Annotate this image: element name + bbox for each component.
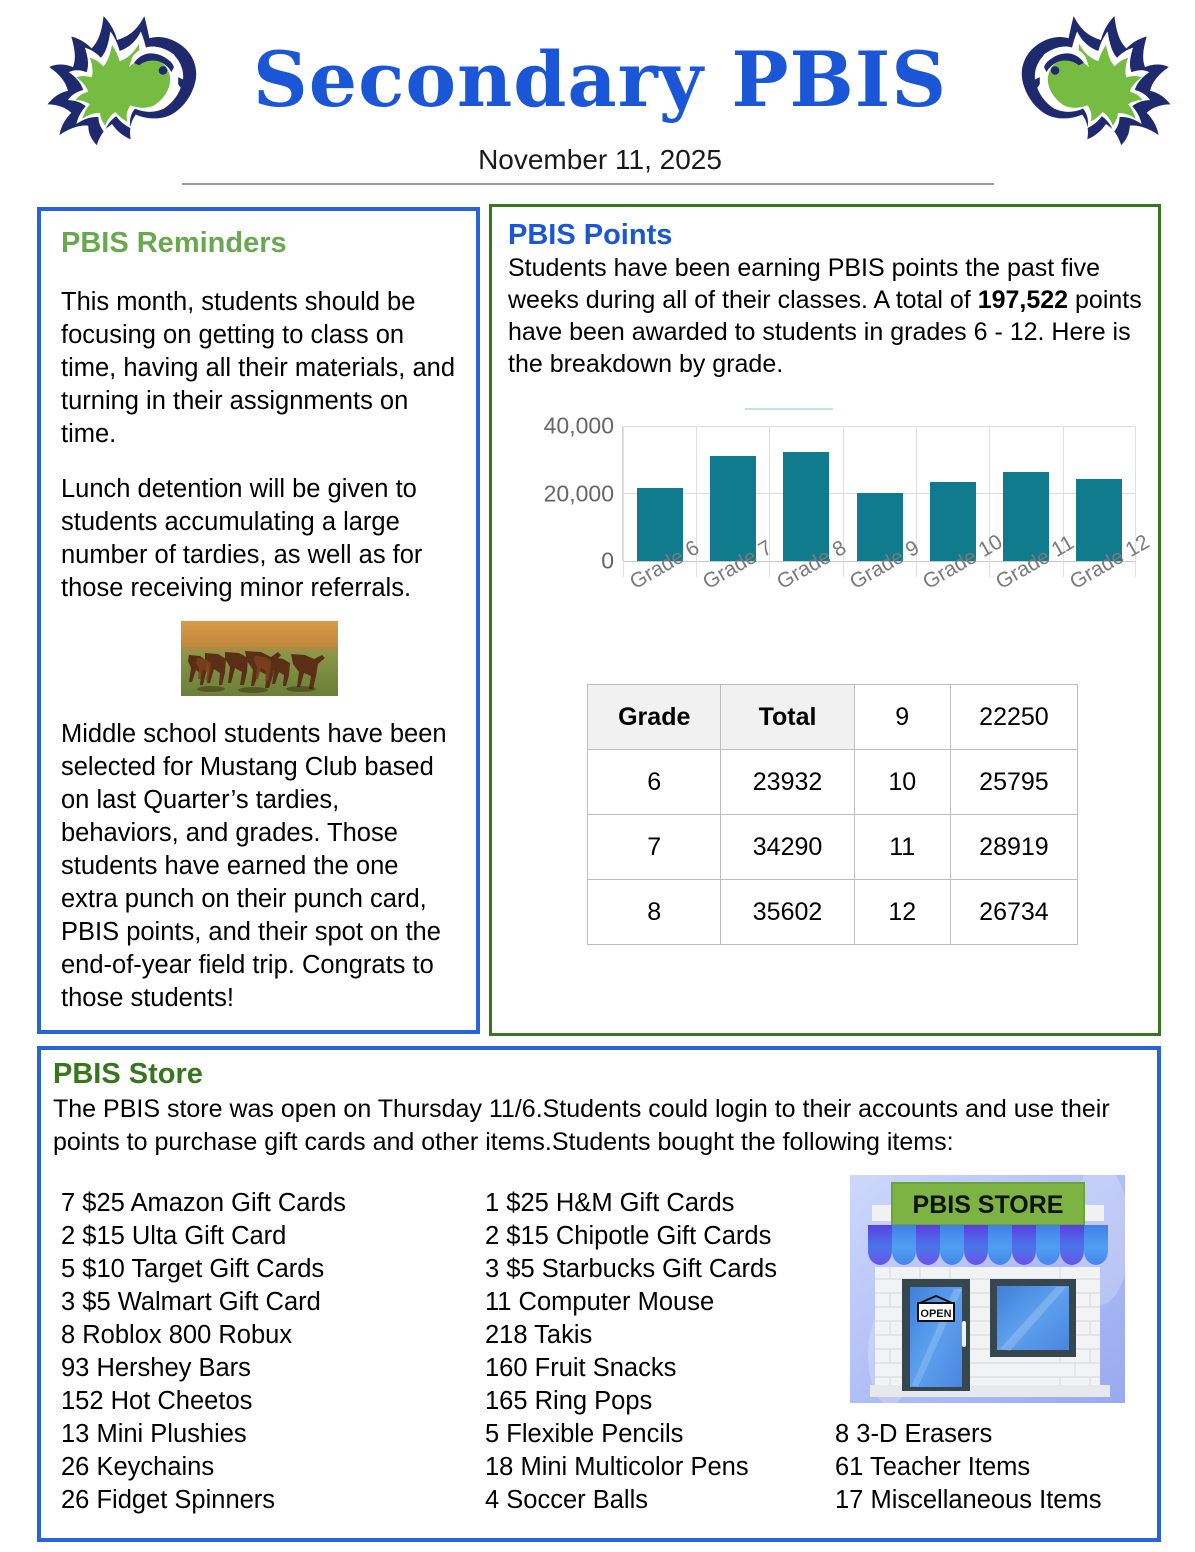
table-cell-grade: 11 — [854, 815, 950, 880]
store-item: 8 3-D Erasers — [835, 1418, 1165, 1451]
store-items-column-2: 1 $25 H&M Gift Cards2 $15 Chipotle Gift … — [485, 1187, 865, 1517]
mustang-head-logo — [33, 6, 208, 146]
header-divider — [182, 183, 994, 185]
store-item: 61 Teacher Items — [835, 1451, 1165, 1484]
running-horses-photo — [181, 621, 338, 696]
store-item: 7 $25 Amazon Gift Cards — [61, 1187, 481, 1220]
newsletter-header: Secondary PBIS November 11, 2025 — [0, 0, 1195, 196]
table-cell-grade: 8 — [588, 880, 721, 945]
store-intro: The PBIS store was open on Thursday 11/6… — [53, 1093, 1143, 1159]
table-header-grade: Grade — [588, 685, 721, 750]
reminders-paragraph-2: Lunch detention will be given to student… — [61, 473, 458, 605]
y-tick-label: 40,000 — [544, 413, 614, 440]
store-item: 11 Computer Mouse — [485, 1286, 865, 1319]
store-item: 17 Miscellaneous Items — [835, 1484, 1165, 1517]
table-cell-grade: 10 — [854, 750, 950, 815]
table-cell-grade: 7 — [588, 815, 721, 880]
storefront-sign-text: PBIS STORE — [913, 1191, 1064, 1219]
storefront-open-sign-text: OPEN — [920, 1308, 951, 1320]
table-cell-grade: 9 — [854, 685, 950, 750]
points-intro: Students have been earning PBIS points t… — [508, 252, 1142, 380]
table-cell-total: 34290 — [721, 815, 854, 880]
store-item: 2 $15 Chipotle Gift Cards — [485, 1220, 865, 1253]
store-item: 26 Keychains — [61, 1451, 481, 1484]
table-cell-total: 28919 — [950, 815, 1077, 880]
table-row: 6 23932 10 25795 — [588, 750, 1078, 815]
store-item: 152 Hot Cheetos — [61, 1385, 481, 1418]
store-item: 13 Mini Plushies — [61, 1418, 481, 1451]
newsletter-page: Secondary PBIS November 11, 2025 PBIS Re… — [0, 0, 1195, 1552]
total-points-value: 197,522 — [978, 286, 1068, 314]
mustang-head-logo — [1010, 6, 1185, 146]
store-item: 5 Flexible Pencils — [485, 1418, 865, 1451]
store-item: 2 $15 Ulta Gift Card — [61, 1220, 481, 1253]
chart-y-axis: 40,000 20,000 0 — [508, 426, 622, 561]
pbis-points-panel: PBIS Points Students have been earning P… — [489, 204, 1161, 1036]
table-cell-grade: 6 — [588, 750, 721, 815]
table-row: 7 34290 11 28919 — [588, 815, 1078, 880]
points-breakdown-table: Grade Total 9 22250 6 23932 10 25795 7 3… — [587, 684, 1078, 945]
table-header-total: Total — [721, 685, 854, 750]
store-item: 1 $25 H&M Gift Cards — [485, 1187, 865, 1220]
store-item: 4 Soccer Balls — [485, 1484, 865, 1517]
table-cell-total: 25795 — [950, 750, 1077, 815]
store-item: 18 Mini Multicolor Pens — [485, 1451, 865, 1484]
table-row: Grade Total 9 22250 — [588, 685, 1078, 750]
table-cell-total: 22250 — [950, 685, 1077, 750]
table-row: 8 35602 12 26734 — [588, 880, 1078, 945]
store-item: 3 $5 Walmart Gift Card — [61, 1286, 481, 1319]
store-item: 26 Fidget Spinners — [61, 1484, 481, 1517]
points-heading: PBIS Points — [508, 219, 1142, 252]
reminders-paragraph-3: Middle school students have been selecte… — [61, 718, 458, 1015]
pbis-reminders-panel: PBIS Reminders This month, students shou… — [37, 207, 480, 1034]
pbis-store-panel: PBIS Store The PBIS store was open on Th… — [37, 1046, 1161, 1542]
store-item: 218 Takis — [485, 1319, 865, 1352]
table-cell-total: 26734 — [950, 880, 1077, 945]
page-title: Secondary PBIS — [200, 38, 1000, 122]
store-item: 93 Hershey Bars — [61, 1352, 481, 1385]
store-item: 160 Fruit Snacks — [485, 1352, 865, 1385]
store-items-column-3: 8 3-D Erasers61 Teacher Items17 Miscella… — [835, 1418, 1165, 1517]
store-item: 8 Roblox 800 Robux — [61, 1319, 481, 1352]
reminders-paragraph-1: This month, students should be focusing … — [61, 286, 458, 451]
table-cell-total: 23932 — [721, 750, 854, 815]
store-item: 165 Ring Pops — [485, 1385, 865, 1418]
table-cell-total: 35602 — [721, 880, 854, 945]
y-tick-label: 0 — [601, 548, 614, 575]
y-tick-label: 20,000 — [544, 480, 614, 507]
store-heading: PBIS Store — [53, 1058, 1143, 1091]
store-items-column-1: 7 $25 Amazon Gift Cards2 $15 Ulta Gift C… — [61, 1187, 481, 1517]
points-by-grade-chart: 40,000 20,000 0 — [508, 398, 1148, 678]
reminders-heading: PBIS Reminders — [61, 227, 458, 260]
store-item: 3 $5 Starbucks Gift Cards — [485, 1253, 865, 1286]
store-item: 5 $10 Target Gift Cards — [61, 1253, 481, 1286]
pbis-storefront-illustration: PBIS STORE — [850, 1175, 1125, 1403]
chart-clipped-legend-line — [745, 408, 833, 410]
table-cell-grade: 12 — [854, 880, 950, 945]
newsletter-date: November 11, 2025 — [200, 144, 1000, 176]
